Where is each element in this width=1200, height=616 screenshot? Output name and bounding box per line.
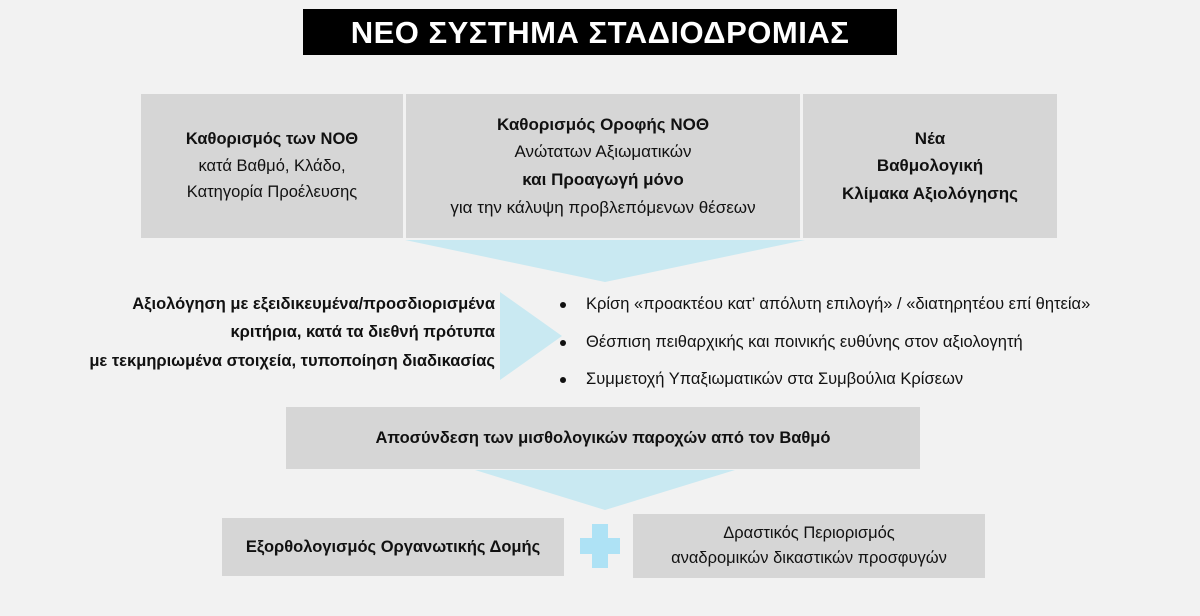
criteria-text-block: Αξιολόγηση με εξειδικευμένα/προσδιορισμέ… [40, 290, 495, 375]
card-line: για την κάλυψη προβλεπόμενων θέσεων [450, 194, 755, 222]
plus-icon-vertical-bar [592, 524, 608, 568]
card-aposyndesi-misthologikon: Αποσύνδεση των μισθολογικών παροχών από … [286, 407, 920, 469]
card-line: αναδρομικών δικαστικών προσφυγών [671, 546, 947, 571]
card-line: Νέα [915, 125, 945, 153]
criteria-line: Αξιολόγηση με εξειδικευμένα/προσδιορισμέ… [40, 290, 495, 318]
card-nea-vathmologiki-klimaka: Νέα Βαθμολογική Κλίμακα Αξιολόγησης [803, 94, 1057, 238]
slide-canvas: ΝΕΟ ΣΥΣΤΗΜΑ ΣΤΑΔΙΟΔΡΟΜΙΑΣ Καθορισμός των… [0, 0, 1200, 616]
card-line: Εξορθολογισμός Οργανωτικής Δομής [246, 534, 540, 561]
list-item: Θέσπιση πειθαρχικής και ποινικής ευθύνης… [552, 334, 1172, 351]
plus-icon [580, 524, 620, 568]
slide-title-bar: ΝΕΟ ΣΥΣΤΗΜΑ ΣΤΑΔΙΟΔΡΟΜΙΑΣ [303, 9, 897, 55]
card-periorismos-prosfygon: Δραστικός Περιορισμός αναδρομικών δικαστ… [633, 514, 985, 578]
card-line: Αποσύνδεση των μισθολογικών παροχών από … [376, 425, 831, 452]
arrow-down-icon [475, 470, 735, 510]
list-item: Συμμετοχή Υπαξιωματικών στα Συμβούλια Κρ… [552, 371, 1172, 388]
card-line: Ανώτατων Αξιωματικών [514, 138, 691, 166]
card-line: Καθορισμός Οροφής ΝΟΘ [497, 111, 709, 139]
card-line: κατά Βαθμό, Κλάδο, [198, 153, 345, 180]
criteria-line: με τεκμηριωμένα στοιχεία, τυποποίηση δια… [40, 347, 495, 375]
list-item: Κρίση «προακτέου κατ’ απόλυτη επιλογή» /… [552, 296, 1172, 313]
card-kathorismos-orofis-noth: Καθορισμός Οροφής ΝΟΘ Ανώτατων Αξιωματικ… [406, 94, 800, 238]
page-title: ΝΕΟ ΣΥΣΤΗΜΑ ΣΤΑΔΙΟΔΡΟΜΙΑΣ [351, 17, 850, 48]
card-line: Κλίμακα Αξιολόγησης [842, 180, 1018, 208]
card-exorthologismos-domis: Εξορθολογισμός Οργανωτικής Δομής [222, 518, 564, 576]
card-line: Κατηγορία Προέλευσης [187, 179, 357, 206]
card-line: Βαθμολογική [877, 152, 983, 180]
bullet-list: Κρίση «προακτέου κατ’ απόλυτη επιλογή» /… [552, 296, 1172, 409]
card-line: Δραστικός Περιορισμός [723, 521, 894, 546]
card-line: Καθορισμός των ΝΟΘ [186, 126, 358, 153]
arrow-down-icon [405, 240, 805, 282]
criteria-line: κριτήρια, κατά τα διεθνή πρότυπα [40, 318, 495, 346]
card-kathorismos-noth: Καθορισμός των ΝΟΘ κατά Βαθμό, Κλάδο, Κα… [141, 94, 403, 238]
card-line: και Προαγωγή μόνο [522, 166, 683, 194]
